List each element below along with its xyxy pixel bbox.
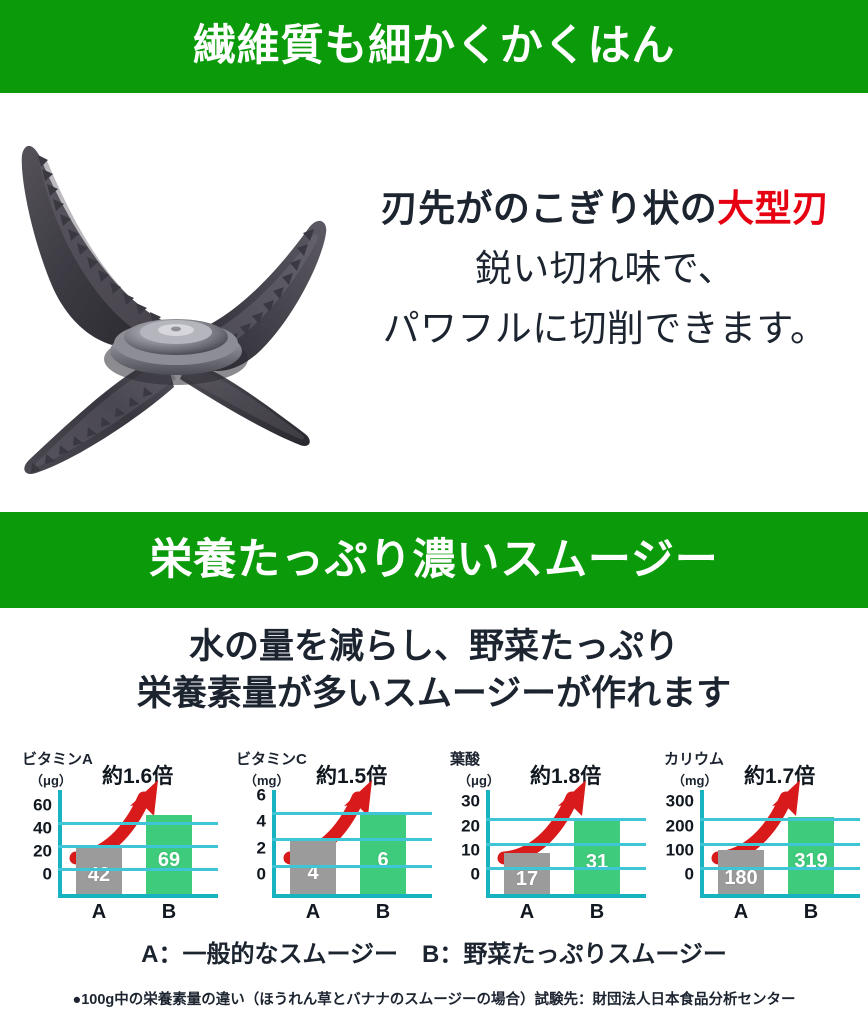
bar-value-b: 6 <box>377 849 388 872</box>
bar-category-b: 31 <box>574 819 620 894</box>
chart-plot-area: 180 319 A B 0100200300 <box>700 798 852 898</box>
chart-title: 葉酸 <box>450 748 480 769</box>
bar-category-b: 319 <box>788 817 834 894</box>
chart-plot-area: 42 69 A B 0204060 <box>58 798 210 898</box>
gridline <box>700 818 860 821</box>
bar-category-a: 4 <box>290 841 336 894</box>
gridline <box>486 843 646 846</box>
chart-vitamin-a: ビタミンA （μg） 約1.6倍 42 69 A <box>6 748 220 928</box>
gridline <box>486 818 646 821</box>
chart-unit-label: （μg） <box>30 770 72 789</box>
blade-copy-line-1-plain: 刃先がのこぎり状の <box>381 188 717 229</box>
bar-value-a: 180 <box>724 867 757 890</box>
chart-unit-label: （mg） <box>244 770 290 789</box>
x-axis <box>272 894 432 898</box>
blade-copy-line-2: 鋭い切れ味で、 <box>348 239 862 299</box>
gridline <box>700 867 860 870</box>
x-axis <box>58 894 218 898</box>
chart-unit-label: （mg） <box>672 770 718 789</box>
bar-value-b: 31 <box>586 851 608 874</box>
chart-plot-area: 4 6 A B 0246 <box>272 798 424 898</box>
chart-footnote: ●100g中の栄養素量の違い（ほうれん草とバナナのスムージーの場合）試験先：財団… <box>0 988 868 1009</box>
chart-multiplier-annotation: 約1.8倍 <box>530 760 601 790</box>
chart-potassium: カリウム （mg） 約1.7倍 180 319 A <box>648 748 862 928</box>
section-banner-smoothie: 栄養たっぷり濃いスムージー <box>0 512 868 608</box>
blender-blade-photo <box>8 111 348 493</box>
y-axis <box>272 790 276 898</box>
y-tick-label: 300 <box>666 792 694 812</box>
x-label-a: A <box>504 901 550 924</box>
chart-title: カリウム <box>664 748 724 769</box>
chart-vitamin-c: ビタミンC （mg） 約1.5倍 4 6 A <box>220 748 434 928</box>
y-tick-label: 10 <box>461 840 480 860</box>
gridline <box>486 867 646 870</box>
x-label-b: B <box>574 901 620 924</box>
chart-multiplier-annotation: 約1.7倍 <box>744 760 815 790</box>
gridline <box>700 843 860 846</box>
gridline <box>58 868 218 871</box>
y-tick-label: 2 <box>257 838 266 858</box>
chart-unit-label: （μg） <box>458 770 500 789</box>
chart-multiplier-annotation: 約1.6倍 <box>102 760 173 790</box>
bar-category-b: 6 <box>360 815 406 894</box>
y-tick-label: 0 <box>43 865 52 885</box>
x-label-a: A <box>718 901 764 924</box>
gridline <box>58 822 218 825</box>
banner-smoothie-title: 栄養たっぷり濃いスムージー <box>149 539 718 582</box>
x-axis <box>700 894 860 898</box>
y-axis <box>58 790 62 898</box>
y-tick-label: 0 <box>685 865 694 885</box>
x-axis <box>486 894 646 898</box>
y-tick-label: 20 <box>33 842 52 862</box>
y-tick-label: 40 <box>33 819 52 839</box>
gridline <box>272 838 432 841</box>
bar-category-b: 69 <box>146 815 192 894</box>
chart-plot-area: 17 31 A B 0102030 <box>486 798 638 898</box>
x-label-b: B <box>360 901 406 924</box>
y-tick-label: 30 <box>461 792 480 812</box>
nutrition-section: 水の量を減らし、野菜たっぷり 栄養素量が多いスムージーが作れます ビタミンA （… <box>0 608 868 1024</box>
chart-multiplier-annotation: 約1.5倍 <box>316 760 387 790</box>
y-tick-label: 20 <box>461 816 480 836</box>
blade-feature-section: 刃先がのこぎり状の大型刃 鋭い切れ味で、 パワフルに切削できます。 <box>0 93 868 512</box>
gridline <box>272 865 432 868</box>
x-label-a: A <box>290 901 336 924</box>
gridline <box>58 845 218 848</box>
blade-copy-line-1: 刃先がのこぎり状の大型刃 <box>348 179 862 239</box>
bar-value-a: 17 <box>516 868 538 891</box>
banner-fiber-title: 繊維質も細かくかくはん <box>193 25 675 68</box>
chart-title: ビタミンA <box>22 748 93 769</box>
y-tick-label: 60 <box>33 796 52 816</box>
y-tick-label: 200 <box>666 816 694 836</box>
x-label-b: B <box>788 901 834 924</box>
chart-folic-acid: 葉酸 （μg） 約1.8倍 17 31 A <box>434 748 648 928</box>
y-tick-label: 100 <box>666 840 694 860</box>
x-label-a: A <box>76 901 122 924</box>
section-banner-fiber: 繊維質も細かくかくはん <box>0 0 868 93</box>
blade-copy-line-3: パワフルに切削できます。 <box>348 299 862 359</box>
y-tick-label: 6 <box>257 786 266 806</box>
y-tick-label: 4 <box>257 812 266 832</box>
nutrition-headline-line-1: 水の量を減らし、野菜たっぷり <box>0 624 868 671</box>
nutrition-headline: 水の量を減らし、野菜たっぷり 栄養素量が多いスムージーが作れます <box>0 624 868 717</box>
chart-title: ビタミンC <box>236 748 307 769</box>
gridline <box>272 812 432 815</box>
bar-category-a: 17 <box>504 853 550 894</box>
blade-copy-line-1-highlight: 大型刃 <box>717 188 829 229</box>
x-label-b: B <box>146 901 192 924</box>
y-tick-label: 0 <box>257 865 266 885</box>
nutrient-charts-row: ビタミンA （μg） 約1.6倍 42 69 A <box>6 748 864 928</box>
nutrition-headline-line-2: 栄養素量が多いスムージーが作れます <box>0 671 868 718</box>
blade-copy-block: 刃先がのこぎり状の大型刃 鋭い切れ味で、 パワフルに切削できます。 <box>348 179 862 359</box>
promo-page: 繊維質も細かくかくはん <box>0 0 868 1024</box>
bar-category-a: 180 <box>718 850 764 894</box>
y-tick-label: 0 <box>471 865 480 885</box>
chart-legend: A：一般的なスムージー B：野菜たっぷりスムージー <box>0 934 868 969</box>
